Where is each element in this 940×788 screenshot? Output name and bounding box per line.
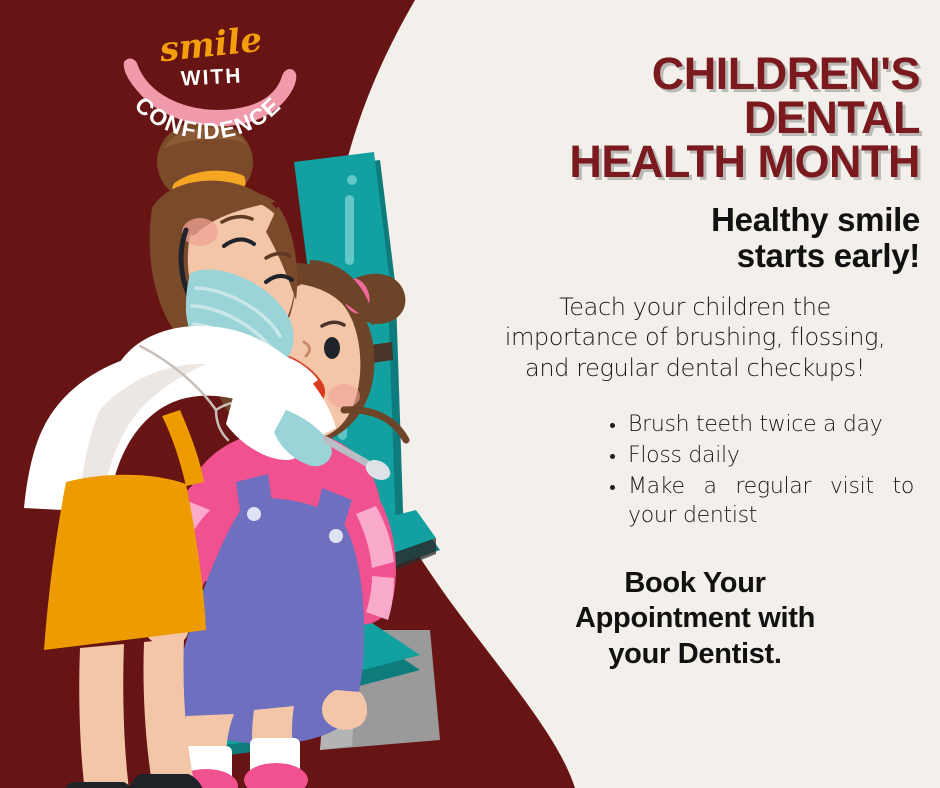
subhead-line-2: starts early! [737, 237, 920, 274]
subhead-line-1: Healthy smile [711, 201, 920, 238]
cta-line-2: Appointment with [575, 602, 815, 634]
list-item: Floss daily [610, 441, 914, 470]
tip-text: Floss daily [628, 443, 740, 468]
dental-illustration [0, 110, 520, 788]
logo-script-word: smile [157, 20, 264, 71]
body-line-1: Teach your children the [559, 293, 831, 321]
list-item: Make a regular visit to your dentist [610, 472, 914, 530]
tip-text: Make a regular visit to your dentist [628, 474, 914, 528]
page-title: CHILDREN'S DENTAL HEALTH MONTH [470, 52, 920, 184]
headline-line-1: CHILDREN'S DENTAL [652, 48, 920, 143]
list-item: Brush teeth twice a day [610, 410, 914, 439]
smile-with-confidence-logo: smile WITH CONFIDENCE [108, 18, 308, 142]
cta-line-1: Book Your [624, 567, 765, 599]
call-to-action: Book Your Appointment with your Dentist. [470, 566, 920, 672]
body-copy: Teach your children the importance of br… [470, 292, 920, 384]
tips-list: Brush teeth twice a day Floss daily Make… [470, 410, 920, 530]
headline-line-2: HEALTH MONTH [569, 136, 920, 187]
body-line-2: importance of brushing, flossing, [505, 323, 886, 351]
body-line-3: and regular dental checkups! [525, 354, 865, 382]
poster-canvas: smile WITH CONFIDENCE CHILDREN'S DENTAL … [0, 0, 940, 788]
tip-text: Brush teeth twice a day [628, 412, 882, 437]
logo-with-word: WITH [180, 64, 243, 90]
cta-line-3: your Dentist. [608, 638, 781, 670]
subheadline: Healthy smile starts early! [470, 202, 920, 273]
content-column: CHILDREN'S DENTAL HEALTH MONTH Healthy s… [470, 52, 920, 672]
